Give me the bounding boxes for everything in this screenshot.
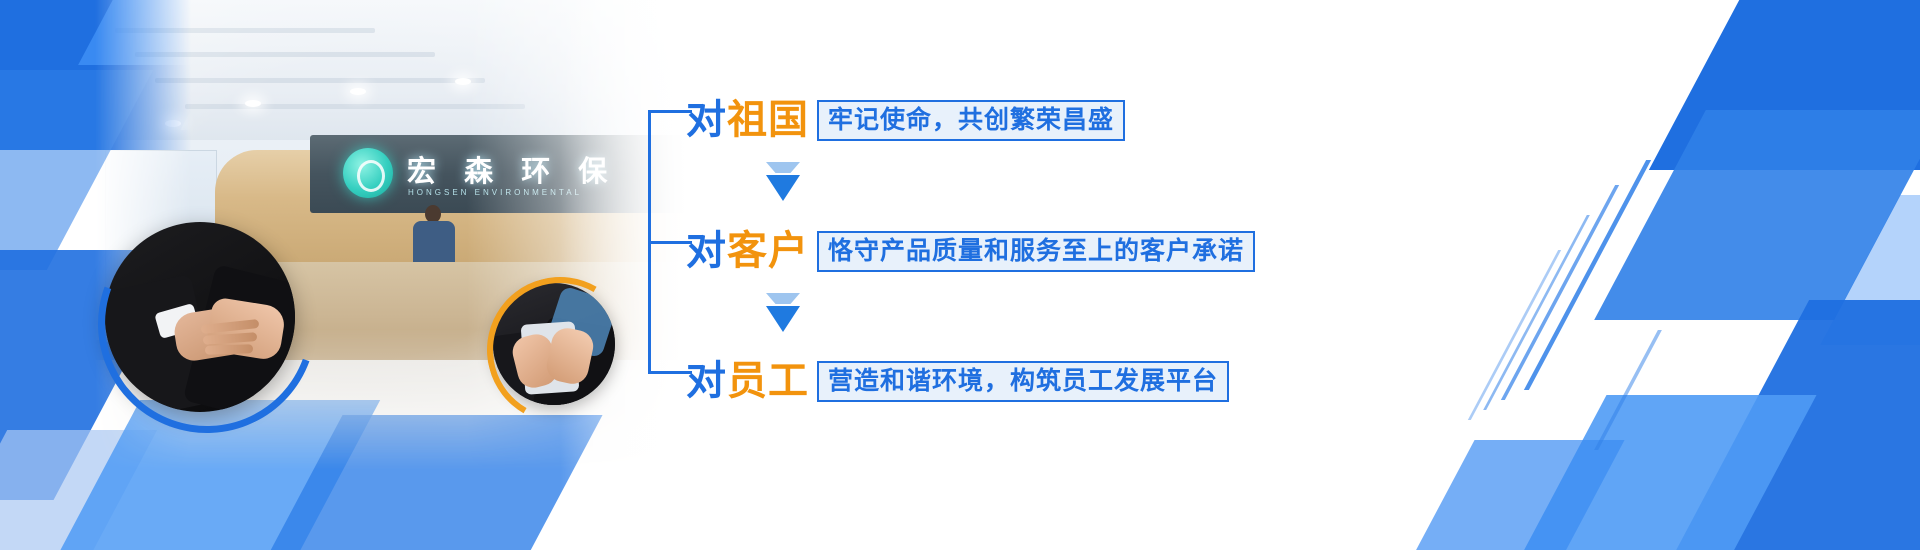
vision-item-customer: 对客户 恪守产品质量和服务至上的客户承诺	[686, 225, 1255, 277]
vision-lead-accent: 员工	[727, 358, 809, 404]
vision-lead-country: 对祖国	[686, 100, 809, 140]
deco-stroke-3	[1483, 215, 1590, 410]
vision-lead-prefix: 对	[686, 358, 727, 404]
vision-lead-prefix: 对	[686, 228, 727, 274]
chevron-down-icon	[766, 293, 800, 332]
vision-statement-country: 牢记使命，共创繁荣昌盛	[817, 100, 1125, 141]
vision-statement-customer: 恪守产品质量和服务至上的客户承诺	[817, 231, 1255, 272]
deco-stroke-2	[1501, 185, 1619, 400]
company-vision-banner: 宏 森 环 保 HONGSEN ENVIRONMENTAL	[0, 0, 1920, 550]
chevron-cap	[766, 293, 800, 304]
deco-shape-right-4	[1513, 395, 1816, 550]
vision-lead-prefix: 对	[686, 97, 727, 143]
chevron-cap	[766, 162, 800, 173]
vision-item-country: 对祖国 牢记使命，共创繁荣昌盛	[686, 94, 1125, 146]
vision-lead-accent: 祖国	[727, 97, 809, 143]
deco-stroke-1	[1524, 160, 1651, 390]
vision-item-employee: 对员工 营造和谐环境，构筑员工发展平台	[686, 355, 1229, 407]
deco-shape-right-3	[1671, 300, 1920, 550]
deco-stroke-4	[1468, 250, 1561, 420]
deco-shape-right-1	[1649, 0, 1920, 170]
deco-stroke-5	[1594, 330, 1662, 450]
vision-lead-employee: 对员工	[686, 361, 809, 401]
vision-lead-accent: 客户	[727, 228, 809, 274]
deco-shape-right-6	[1820, 195, 1920, 345]
chevron-down-icon	[766, 162, 800, 201]
deco-shape-right-5	[1405, 440, 1624, 550]
deco-shape-right-2	[1594, 110, 1920, 320]
vision-list: 对祖国 牢记使命，共创繁荣昌盛 对客户 恪守产品质量和服务至上的客户承诺 对员工…	[648, 72, 1388, 402]
vision-lead-customer: 对客户	[686, 231, 809, 271]
vision-statement-employee: 营造和谐环境，构筑员工发展平台	[817, 361, 1229, 402]
chevron-triangle	[766, 306, 800, 332]
chevron-triangle	[766, 175, 800, 201]
